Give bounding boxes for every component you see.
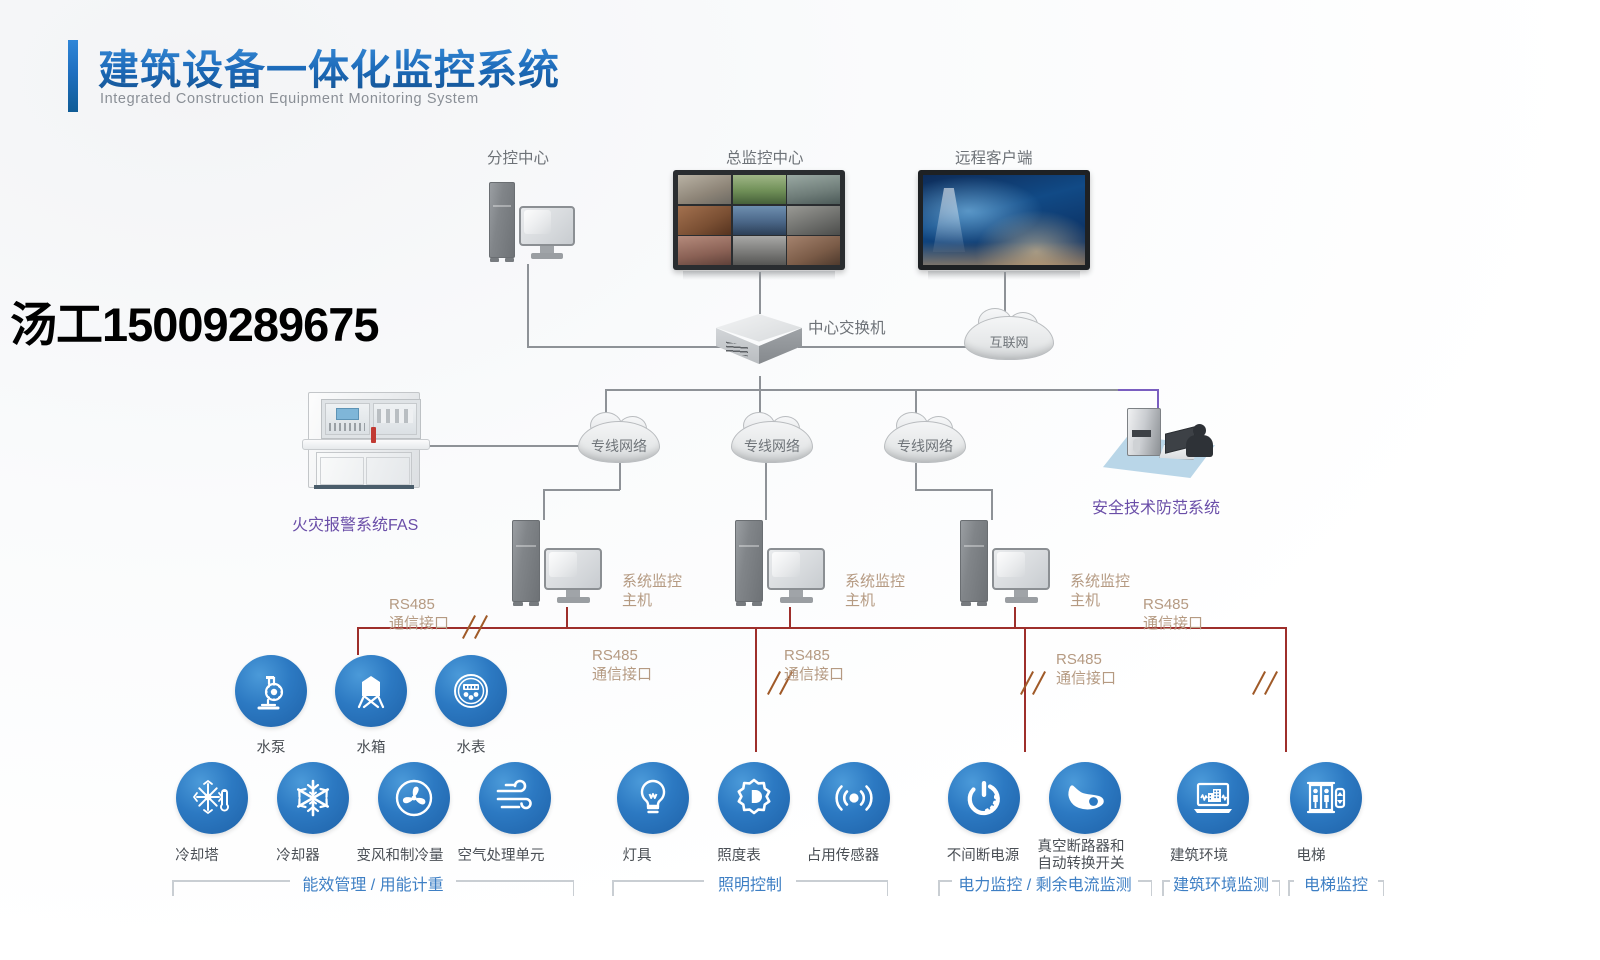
bracket-top-right	[1138, 880, 1152, 882]
rs485-m-line2: 通信接口	[784, 666, 844, 683]
bracket-top-left	[1162, 880, 1170, 882]
bracket-top-left	[172, 880, 290, 882]
host3-line2: 主机	[1070, 592, 1100, 609]
rs485-left-line1: RS485	[389, 596, 435, 613]
link-switch-down	[759, 376, 761, 390]
video-cell	[678, 175, 731, 204]
label-dedicated-line-2: 专线网络	[731, 436, 813, 456]
label-fire-alarm-system: 火灾报警系统FAS	[292, 511, 418, 535]
tower-foot	[529, 602, 539, 606]
label-ahu: 空气处理单元	[456, 848, 546, 865]
label-system-host-1: 系统监控 主机	[622, 572, 682, 610]
rs485-m-line1: RS485	[784, 647, 830, 664]
tower-icon	[489, 182, 515, 258]
system-host-1[interactable]	[512, 520, 616, 608]
label-group-elevator: 电梯监控	[1304, 871, 1368, 895]
console-cabinet	[316, 452, 412, 486]
monitor-neck	[566, 590, 580, 597]
tower-foot	[513, 602, 523, 606]
monitor-icon	[992, 548, 1050, 590]
bracket-top-right	[1272, 880, 1280, 882]
label-dedicated-line-1: 专线网络	[578, 436, 660, 456]
video-cell	[678, 236, 731, 265]
tower-foot	[490, 258, 499, 262]
label-water-pump: 水泵	[231, 740, 311, 757]
bracket-left-tick	[1162, 882, 1164, 896]
label-water-meter: 水表	[431, 740, 511, 757]
tower-foot	[752, 602, 762, 606]
system-host-3[interactable]	[960, 520, 1064, 608]
label-group-energy-efficiency: 能效管理 / 用能计重	[302, 871, 443, 895]
main-monitoring-video-wall[interactable]	[673, 170, 845, 270]
operator-body	[1186, 435, 1213, 457]
bus-slash-mark	[1020, 671, 1034, 695]
label-cooling-tower: 冷却塔	[157, 848, 237, 865]
label-sub-control-center: 分控中心	[487, 146, 549, 168]
device-icon-water-tank[interactable]	[335, 655, 407, 727]
console-base	[314, 485, 414, 489]
cloud1-drop	[619, 463, 621, 490]
device-icon-water-pump[interactable]	[235, 655, 307, 727]
link-fas-to-cloud1	[430, 445, 578, 447]
video-cell	[733, 236, 786, 265]
page-title: 建筑设备一体化监控系统	[98, 36, 560, 96]
sub-control-center-node[interactable]	[489, 182, 589, 264]
device-icon-vav-cooling[interactable]	[378, 762, 450, 834]
bracket-top-left	[1288, 880, 1294, 882]
video-cell	[678, 206, 731, 235]
host2-line2: 主机	[845, 592, 875, 609]
label-group-lighting-control: 照明控制	[718, 871, 782, 895]
monitor-neck	[540, 246, 554, 253]
monitor-icon	[767, 548, 825, 590]
rs485-r-line1: RS485	[1143, 596, 1189, 613]
rs485-mr-line2: 通信接口	[1056, 670, 1116, 687]
operator-head	[1193, 424, 1206, 437]
video-cell	[787, 236, 840, 265]
drop-to-cloud-3	[915, 389, 917, 413]
tower-icon	[735, 520, 763, 602]
monitor-glare	[997, 552, 1025, 577]
diagram-canvas: 建筑设备一体化监控系统 Integrated Construction Equi…	[0, 0, 1600, 960]
center-switch-icon[interactable]	[716, 314, 802, 376]
fire-alarm-console-icon[interactable]	[302, 392, 430, 490]
tower-foot	[505, 258, 514, 262]
console-handset	[371, 427, 376, 443]
video-cell	[733, 206, 786, 235]
rs485-r-line2: 通信接口	[1143, 615, 1203, 632]
label-internet: 互联网	[964, 332, 1054, 351]
monitor-base	[531, 253, 563, 259]
label-building-env: 建筑环境	[1159, 848, 1239, 865]
security-workstation-icon[interactable]	[1103, 406, 1215, 480]
monitor-icon	[544, 548, 602, 590]
system-host-2[interactable]	[735, 520, 839, 608]
vcb-ats-line2: 自动转换开关	[1038, 856, 1125, 872]
bus-drop-water	[357, 627, 359, 655]
link-videowall-to-switch	[759, 272, 761, 314]
monitor-base	[557, 597, 590, 603]
bus-slash-mark	[1264, 671, 1278, 695]
monitor-icon	[519, 206, 575, 246]
internet-cloud[interactable]: 互联网	[964, 316, 1054, 360]
monitor-neck	[789, 590, 803, 597]
host3-line1: 系统监控	[1070, 573, 1130, 590]
label-rs485-mid-right: RS485 通信接口	[1056, 650, 1116, 688]
tower-icon	[960, 520, 988, 602]
rs485-mr-line1: RS485	[1056, 651, 1102, 668]
bracket-right-tick	[1383, 882, 1385, 896]
remote-client-screen[interactable]	[918, 170, 1090, 270]
page-subtitle: Integrated Construction Equipment Monito…	[100, 91, 479, 107]
trunk-horizontal-right	[798, 346, 974, 348]
device-icon-ups[interactable]	[948, 762, 1020, 834]
host2-line1: 系统监控	[845, 573, 905, 590]
label-remote-client: 远程客户端	[955, 146, 1033, 168]
device-icon-ahu[interactable]	[479, 762, 551, 834]
device-icon-occupancy-sensor[interactable]	[818, 762, 890, 834]
bracket-left-tick	[612, 882, 614, 896]
label-water-tank: 水箱	[331, 740, 411, 757]
group-bracket-power-monitoring: 电力监控 / 剩余电流监测	[938, 880, 1152, 896]
tower-foot	[961, 602, 971, 606]
bracket-top-right	[1378, 880, 1384, 882]
console-panel-left	[325, 403, 370, 435]
bracket-top-right	[796, 880, 888, 882]
host1-line2: 主机	[622, 592, 652, 609]
device-icon-elevator[interactable]	[1290, 762, 1362, 834]
video-wall-screen	[673, 170, 845, 270]
device-icon-cooling-tower[interactable]	[176, 762, 248, 834]
console-desk	[302, 439, 430, 450]
monitor-base	[1005, 597, 1038, 603]
label-system-host-3: 系统监控 主机	[1070, 572, 1130, 610]
label-rs485-right: RS485 通信接口	[1143, 595, 1203, 633]
bracket-left-tick	[938, 882, 940, 896]
drop-to-cloud-1	[605, 389, 607, 413]
label-lux-meter: 照度表	[699, 848, 779, 865]
video-wall-grid	[678, 175, 840, 265]
group-bracket-building-env: 建筑环境监测	[1162, 880, 1280, 896]
label-rs485-left: RS485 通信接口	[389, 595, 449, 633]
label-vcb-ats: 真空断路器和 自动转换开关	[1026, 839, 1136, 873]
contact-watermark: 汤工15009289675	[10, 286, 379, 355]
device-icon-building-env[interactable]	[1177, 762, 1249, 834]
bus-slash-mark	[1252, 671, 1266, 695]
host3-bus-drop	[1014, 607, 1016, 628]
remote-client-display	[918, 170, 1090, 270]
monitor-glare	[524, 210, 551, 234]
label-system-host-2: 系统监控 主机	[845, 572, 905, 610]
tower-foot	[736, 602, 746, 606]
bus-slash-mark	[1032, 671, 1046, 695]
cloud3-to-host3	[991, 489, 993, 520]
bracket-right-tick	[1151, 882, 1153, 896]
label-dedicated-line-3: 专线网络	[884, 436, 966, 456]
rs485-ml-line1: RS485	[592, 647, 638, 664]
label-security-system: 安全技术防范系统	[1092, 494, 1220, 518]
cloud2-to-host2	[765, 463, 767, 520]
video-cell	[787, 175, 840, 204]
label-rs485-mid-left: RS485 通信接口	[592, 646, 652, 684]
cloud1-elbow	[543, 489, 620, 491]
link-subcenter-to-trunk	[527, 264, 529, 346]
label-chiller: 冷却器	[258, 848, 338, 865]
label-occupancy-sensor: 占用传感器	[795, 848, 891, 865]
video-cell	[787, 206, 840, 235]
bus-slash-mark	[767, 671, 781, 695]
tower-icon	[512, 520, 540, 602]
device-icon-lux-meter[interactable]	[718, 762, 790, 834]
group-bracket-lighting-control: 照明控制	[612, 880, 888, 896]
label-lamp: 灯具	[597, 848, 677, 865]
device-icon-lamp[interactable]	[617, 762, 689, 834]
label-center-switch: 中心交换机	[808, 316, 886, 338]
cloud3-drop	[915, 463, 917, 490]
device-icon-chiller[interactable]	[277, 762, 349, 834]
bus-drop-lighting	[755, 627, 757, 752]
label-elevator: 电梯	[1271, 848, 1351, 865]
label-ups: 不间断电源	[931, 848, 1035, 865]
video-cell	[733, 175, 786, 204]
monitor-base	[780, 597, 813, 603]
cloud3-elbow	[915, 489, 992, 491]
header-accent-bar	[68, 40, 78, 112]
dedicated-line-cloud-1[interactable]: 专线网络	[578, 421, 660, 463]
group-bracket-elevator: 电梯监控	[1288, 880, 1384, 896]
bracket-top-left	[612, 880, 704, 882]
link-to-security-horizontal	[1118, 389, 1158, 391]
workstation-tower	[1127, 408, 1161, 456]
vcb-ats-line1: 真空断路器和	[1038, 839, 1125, 855]
cityscape-image	[923, 175, 1085, 265]
bracket-top-right	[456, 880, 574, 882]
host2-bus-drop	[789, 607, 791, 628]
drop-to-cloud-2	[759, 389, 761, 413]
device-icon-vcb-ats[interactable]	[1049, 762, 1121, 834]
dedicated-line-cloud-3[interactable]: 专线网络	[884, 421, 966, 463]
label-rs485-mid: RS485 通信接口	[784, 646, 844, 684]
bracket-right-tick	[1279, 882, 1281, 896]
trunk-second-horizontal	[605, 389, 1119, 391]
host1-line1: 系统监控	[622, 573, 682, 590]
console-panel-right	[373, 403, 418, 435]
cloud1-to-host1	[543, 489, 545, 520]
bus-drop-env	[1285, 627, 1287, 752]
label-group-building-env: 建筑环境监测	[1173, 871, 1269, 895]
bracket-right-tick	[573, 882, 575, 896]
host1-bus-drop	[566, 607, 568, 628]
monitor-neck	[1014, 590, 1028, 597]
bracket-left-tick	[172, 882, 174, 896]
label-main-monitoring-center: 总监控中心	[726, 146, 804, 168]
dedicated-line-cloud-2[interactable]: 专线网络	[731, 421, 813, 463]
monitor-glare	[549, 552, 577, 577]
rs485-left-line2: 通信接口	[389, 615, 449, 632]
label-group-power-monitoring: 电力监控 / 剩余电流监测	[958, 871, 1131, 895]
group-bracket-energy-efficiency: 能效管理 / 用能计重	[172, 880, 574, 896]
device-icon-water-meter[interactable]	[435, 655, 507, 727]
label-vav-cooling: 变风和制冷量	[355, 848, 445, 865]
rs485-ml-line2: 通信接口	[592, 666, 652, 683]
bracket-right-tick	[887, 882, 889, 896]
bracket-left-tick	[1288, 882, 1290, 896]
bracket-top-left	[938, 880, 952, 882]
tower-foot	[977, 602, 987, 606]
monitor-glare	[772, 552, 800, 577]
